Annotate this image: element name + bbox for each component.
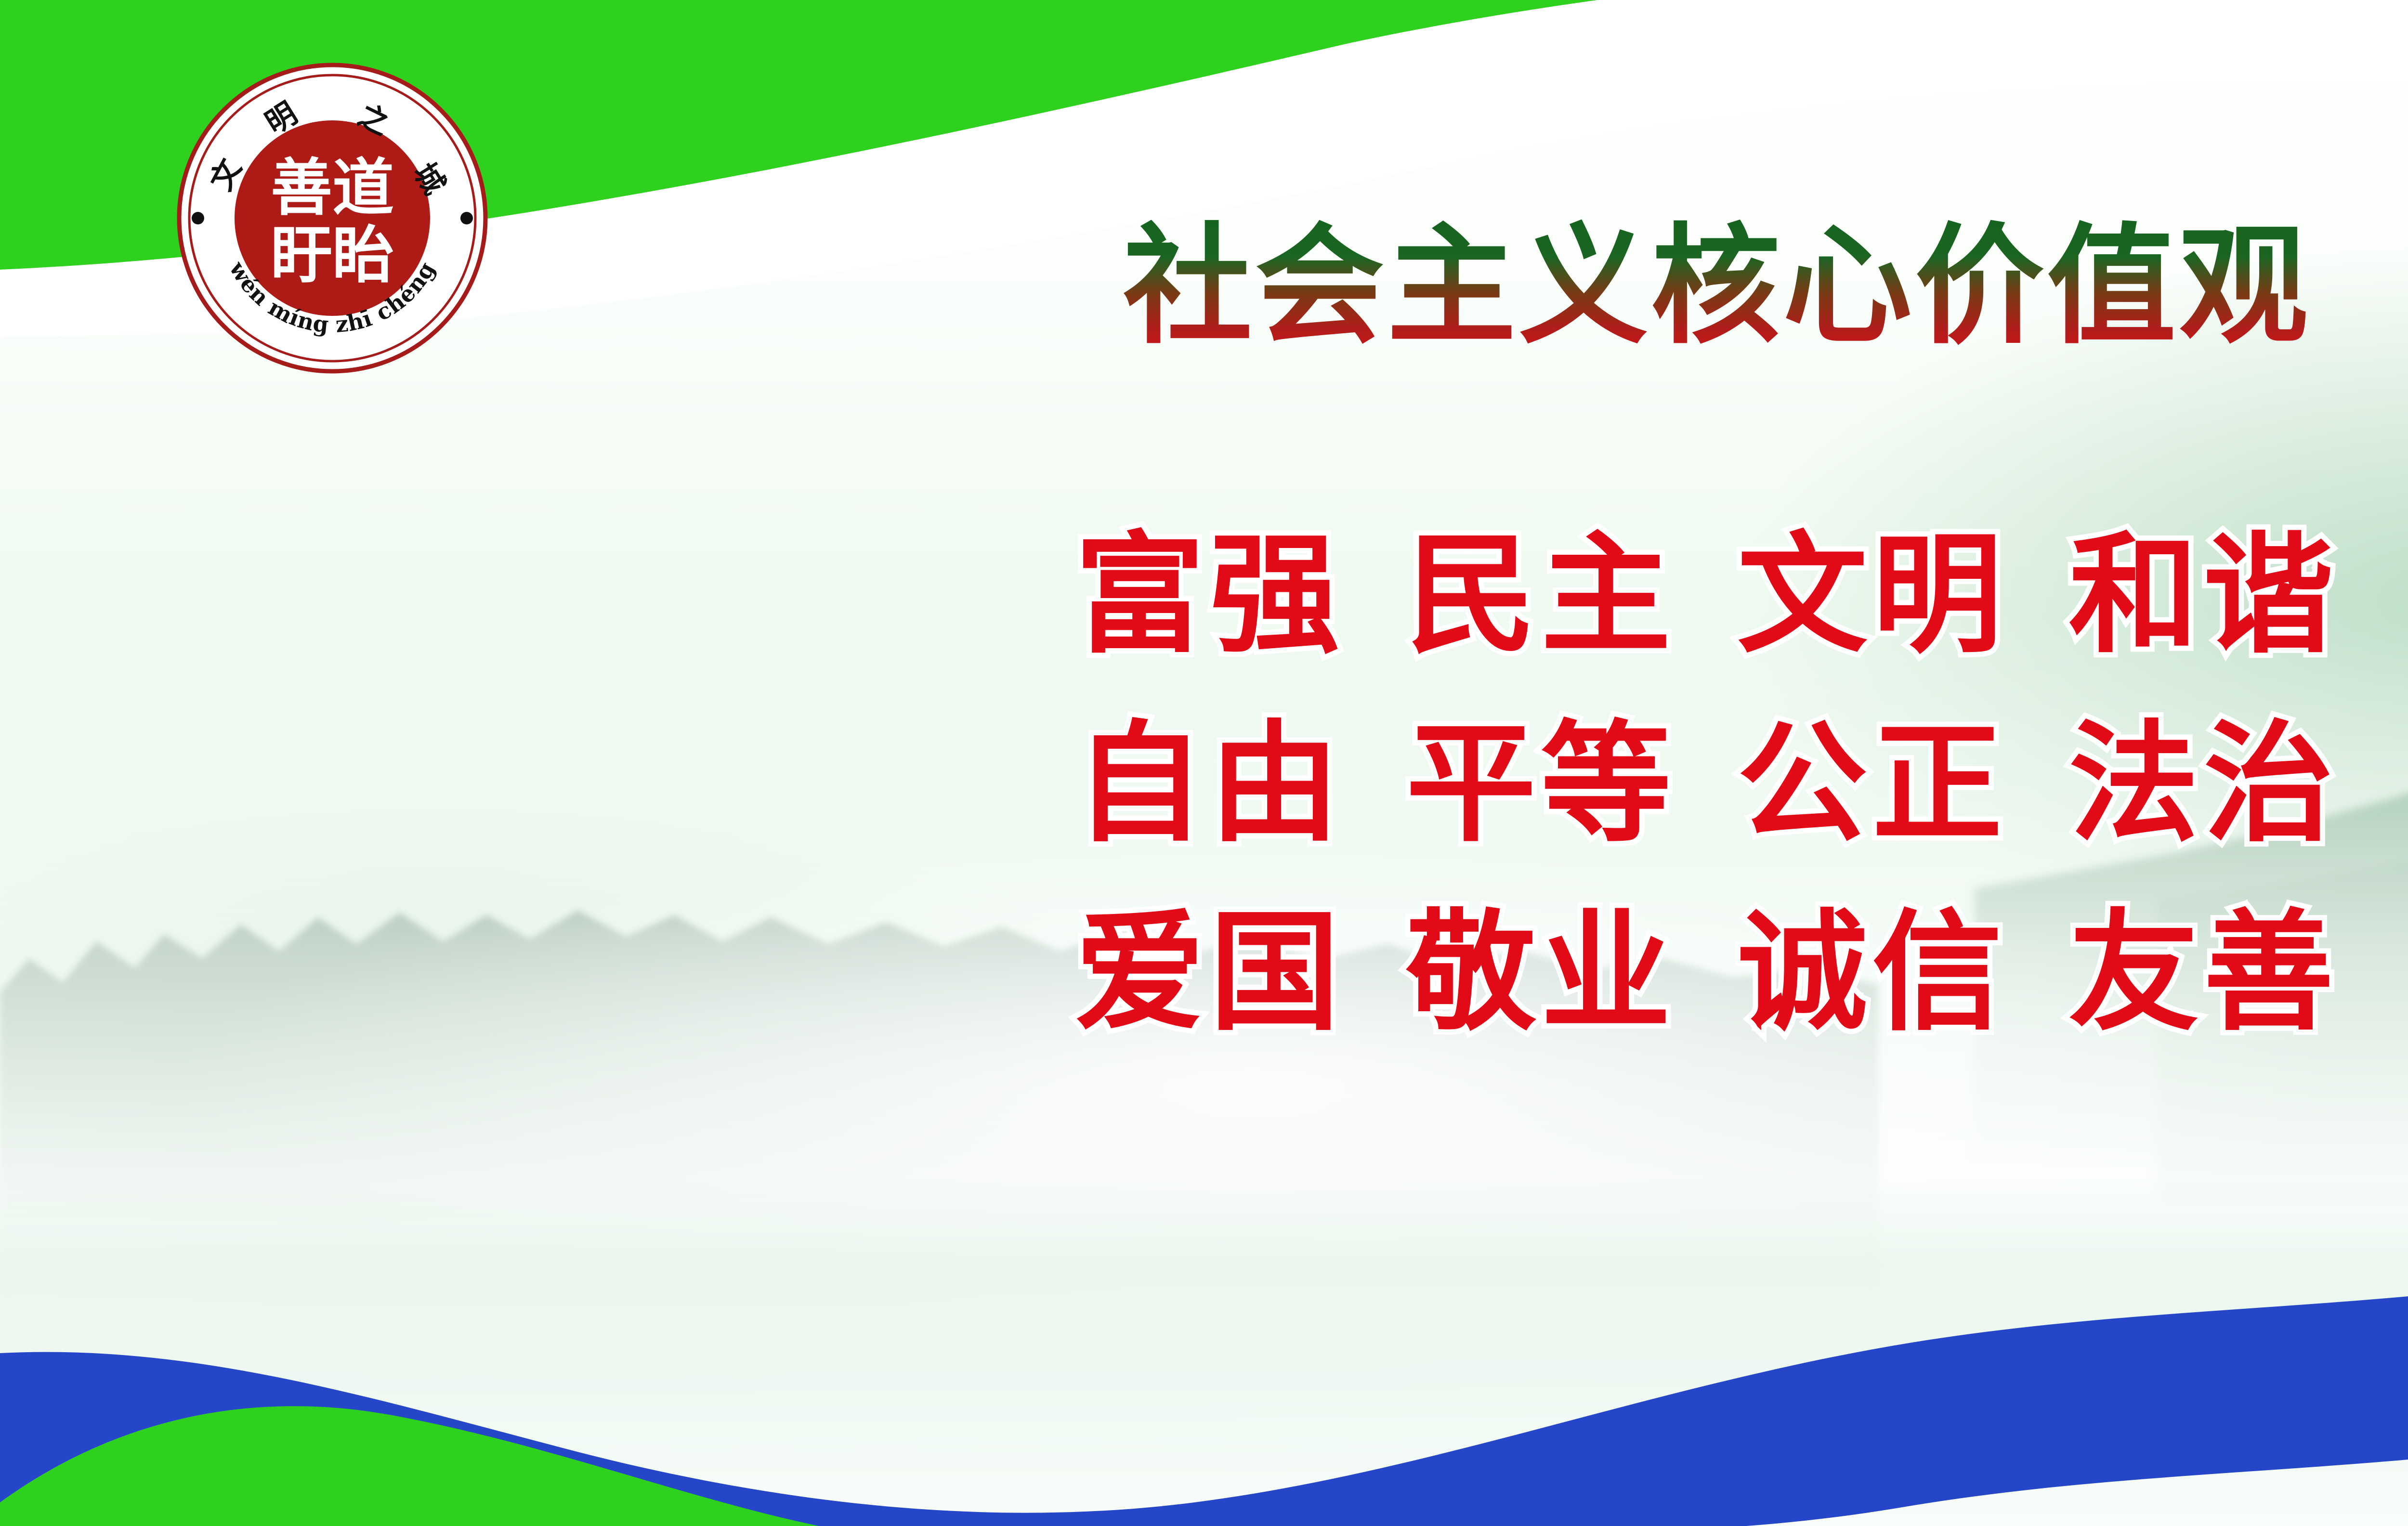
headline-title: 社会主义核心价值观 [1123, 211, 2311, 359]
slogan-word-fazhi: 法治 [2069, 719, 2339, 849]
slogan-word-fuqiang: 富强 [1075, 530, 1345, 660]
headline-svg: 社会主义核心价值观 [838, 200, 2408, 359]
civilized-city-seal: 文 明 之 城 善道 盱眙 wén míng zhī chéng [176, 62, 489, 375]
slogan-word-pingdeng: 平等 [1406, 719, 1676, 849]
background-lake-water [0, 1180, 2408, 1526]
core-values-slogans: 富强 民主 文明 和谐 自由 平等 公正 法治 爱国 敬业 诚信 友善 [0, 501, 2408, 1067]
slogan-word-minzhu: 民主 [1406, 530, 1676, 660]
headline-container: 社会主义核心价值观 [838, 200, 2408, 359]
slogan-word-youshan: 友善 [2069, 908, 2339, 1038]
seal-center-line1: 善道 [271, 152, 394, 224]
seal-dot-right [460, 212, 473, 224]
ribbon-blue-bottom [0, 1002, 2408, 1526]
slogan-word-jingye: 敬业 [1406, 908, 1676, 1038]
propaganda-banner: 文 明 之 城 善道 盱眙 wén míng zhī chéng [0, 0, 2408, 1526]
slogan-word-gongzheng: 公正 [1738, 719, 2007, 849]
slogan-word-wenming: 文明 [1738, 530, 2007, 660]
slogan-word-ziyou: 自由 [1075, 719, 1345, 849]
seal-dot-left [192, 212, 204, 224]
seal-svg: 文 明 之 城 善道 盱眙 wén míng zhī chéng [176, 62, 489, 375]
slogan-row-1: 富强 民主 文明 和谐 [0, 501, 2408, 690]
slogan-row-3: 爱国 敬业 诚信 友善 [0, 878, 2408, 1067]
slogan-word-aiguo: 爱国 [1075, 908, 1345, 1038]
slogan-word-hexie: 和谐 [2069, 530, 2339, 660]
slogan-word-chengxin: 诚信 [1738, 908, 2007, 1038]
slogan-row-2: 自由 平等 公正 法治 [0, 690, 2408, 878]
ribbon-green-bottom-left [0, 1406, 819, 1526]
seal-center-line2: 盱眙 [271, 219, 394, 291]
